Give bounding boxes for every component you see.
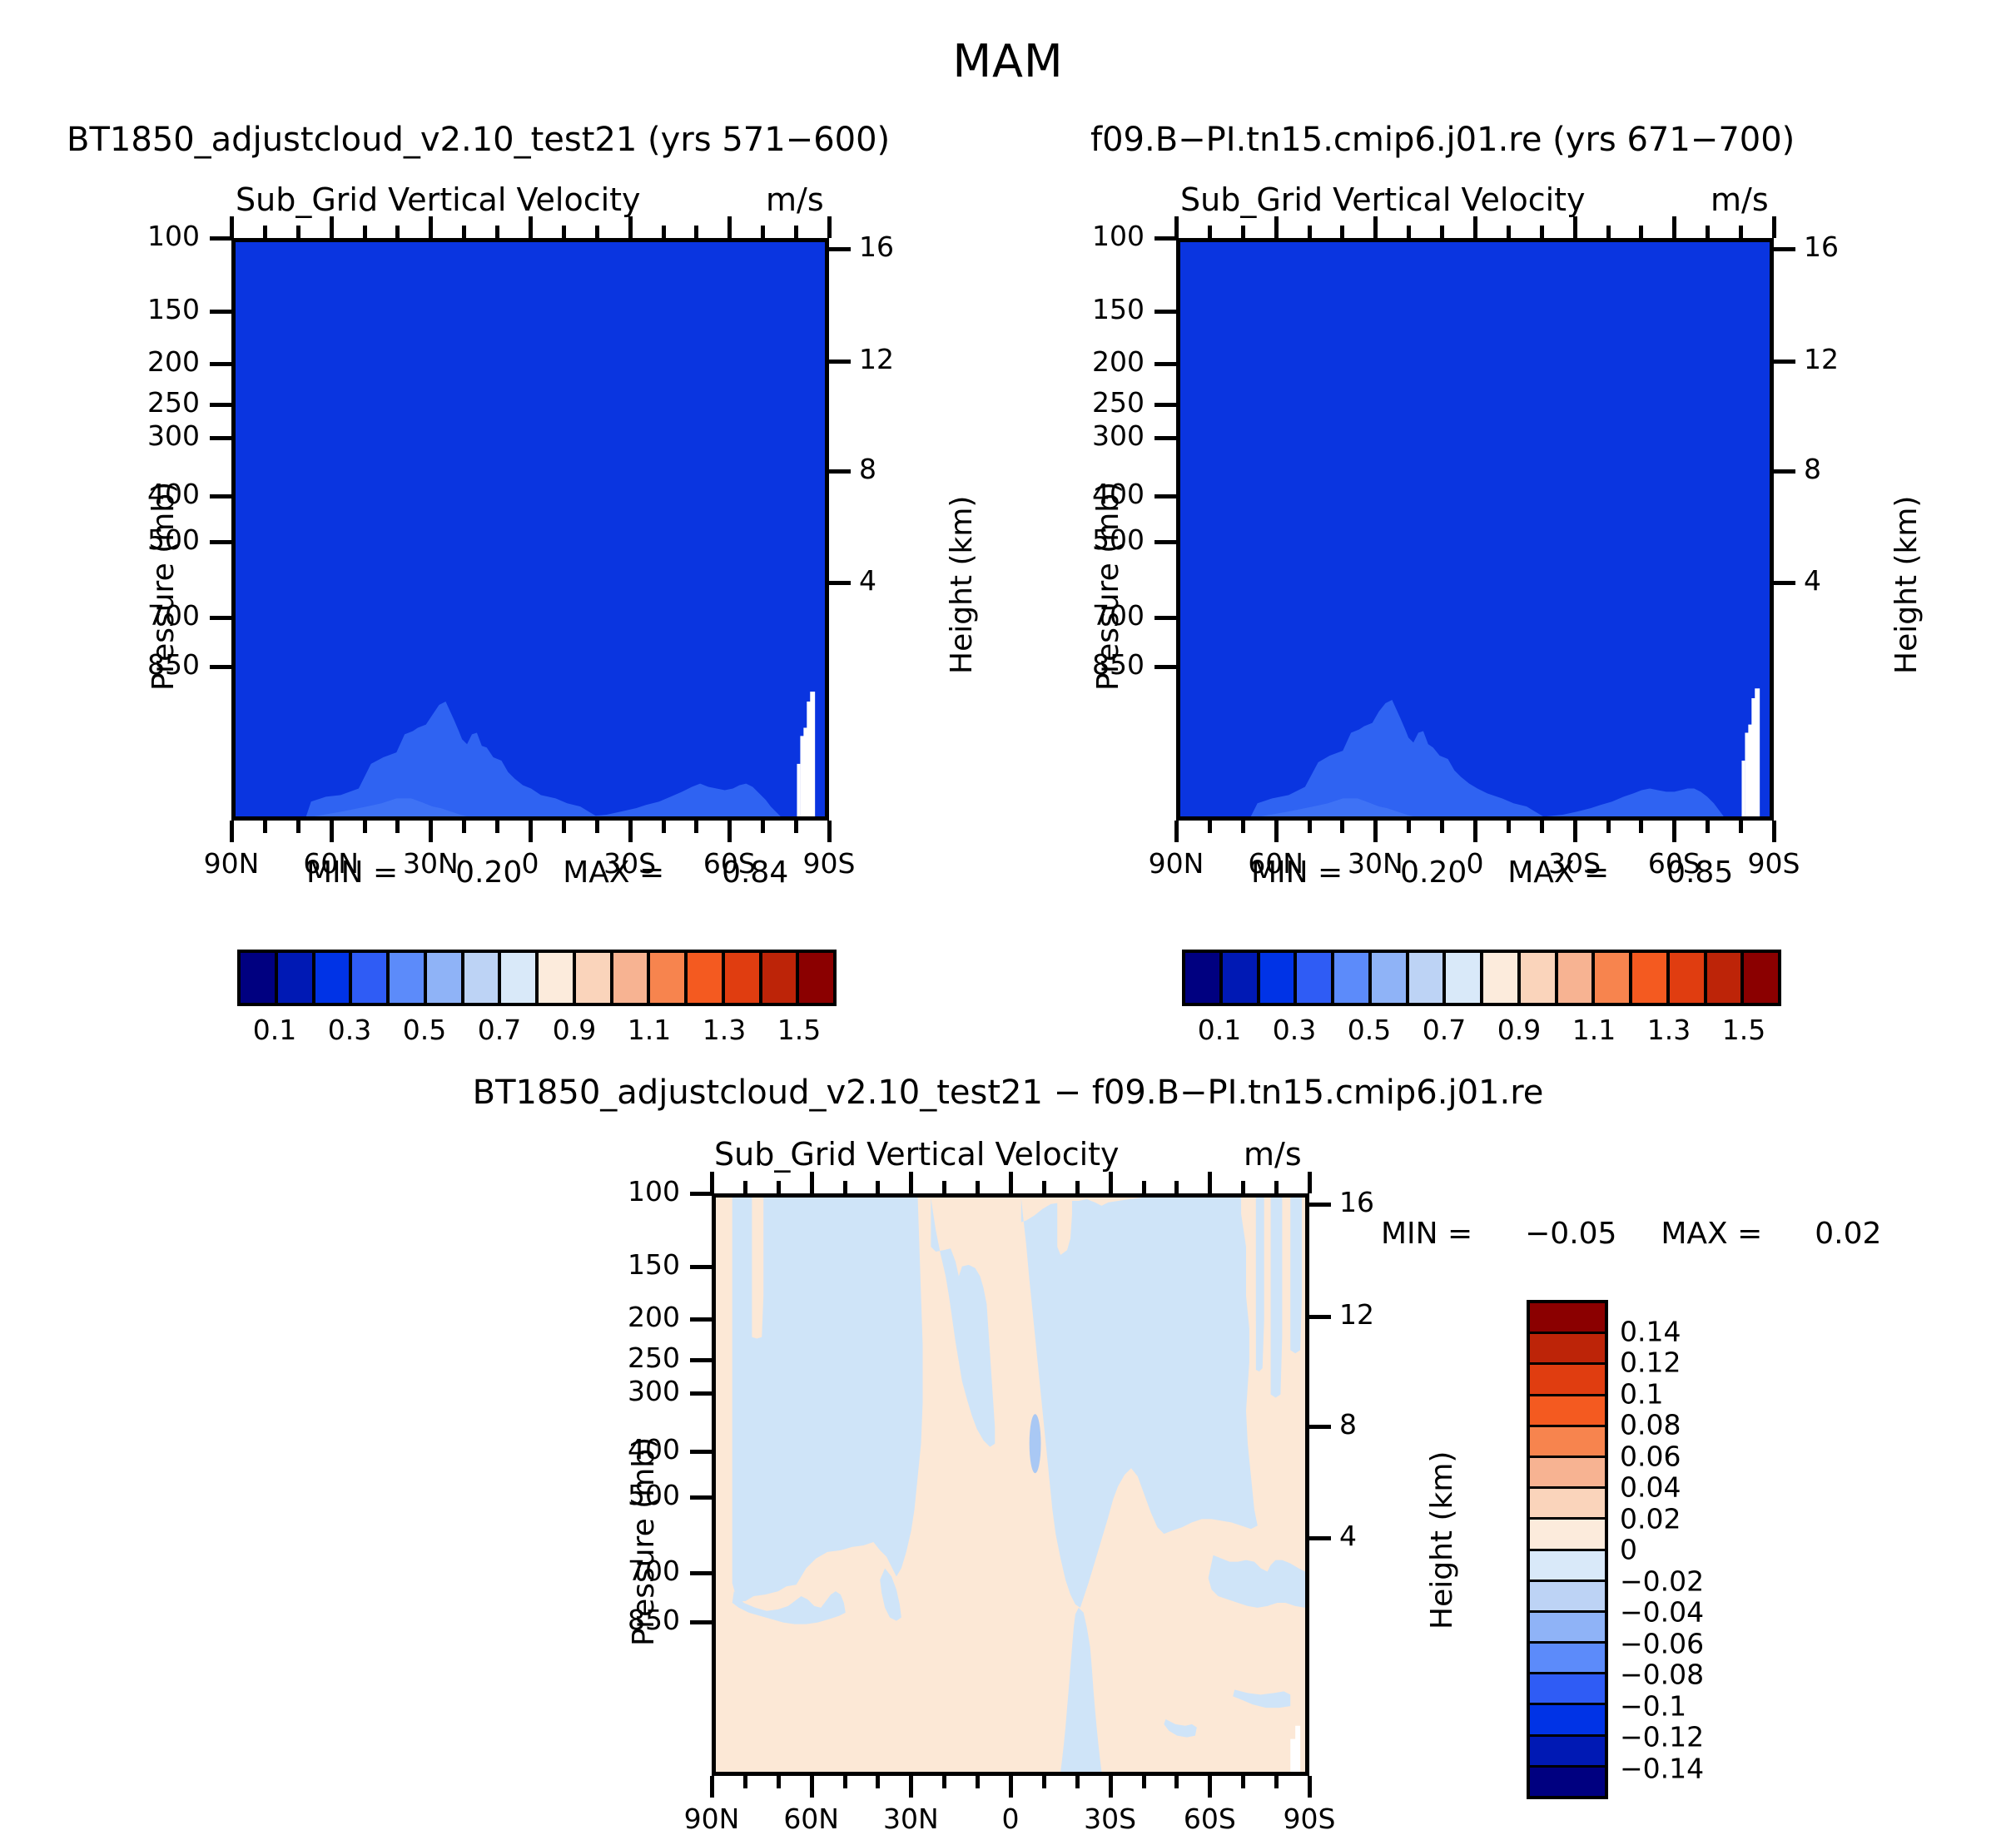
latitude-minor-tick xyxy=(843,1776,847,1788)
latitude-minor-tick xyxy=(1042,1776,1046,1788)
latitude-minor-tick xyxy=(1507,821,1511,833)
diff-colorbar-cell[interactable] xyxy=(1530,1458,1605,1489)
top-axis-minor-tick xyxy=(296,226,300,238)
latitude-tick-label: 90S xyxy=(1716,847,1832,880)
colorbar-cell[interactable] xyxy=(464,953,502,1003)
top-axis-minor-tick xyxy=(1308,226,1312,238)
top-axis-minor-tick xyxy=(743,1181,747,1193)
top-axis-minor-tick xyxy=(976,1181,980,1193)
latitude-minor-tick xyxy=(1174,1776,1179,1788)
colorbar-cell[interactable] xyxy=(1185,953,1223,1003)
colorbar-tick-label: 1.5 xyxy=(1694,1014,1794,1046)
colorbar-cell[interactable] xyxy=(1334,953,1372,1003)
pressure-tick-mark xyxy=(210,540,231,544)
pressure-tick-label: 400 xyxy=(82,478,200,510)
pressure-tick-mark xyxy=(1154,616,1176,620)
top-axis-tick-mark xyxy=(1672,216,1676,238)
top-axis-tick-mark xyxy=(429,216,433,238)
top-axis-tick-mark xyxy=(1573,216,1577,238)
top-axis-tick-mark xyxy=(1208,1172,1212,1193)
latitude-minor-tick xyxy=(662,821,666,833)
diff-min-value: −0.05 xyxy=(1525,1217,1616,1251)
height-tick-mark xyxy=(829,360,851,364)
pressure-tick-mark xyxy=(210,665,231,669)
height-tick-label: 16 xyxy=(859,231,926,263)
diff-panel-variable-title: Sub_Grid Vertical Velocity xyxy=(714,1136,1120,1173)
right-panel-plot-area[interactable] xyxy=(1176,238,1774,821)
latitude-tick-mark xyxy=(1208,1776,1212,1798)
top-axis-tick-mark xyxy=(1473,216,1477,238)
pressure-tick-label: 150 xyxy=(562,1248,680,1281)
colorbar-cell[interactable] xyxy=(1744,953,1778,1003)
pressure-tick-mark xyxy=(690,1265,712,1269)
colorbar-tick-label: 1.5 xyxy=(749,1014,849,1046)
latitude-minor-tick xyxy=(876,1776,880,1788)
height-tick-label: 4 xyxy=(1804,564,1870,597)
diff-colorbar-cell[interactable] xyxy=(1530,1551,1605,1582)
top-axis-minor-tick xyxy=(495,226,499,238)
colorbar-cell[interactable] xyxy=(1558,953,1596,1003)
colorbar-cell[interactable] xyxy=(1409,953,1447,1003)
colorbar-cell[interactable] xyxy=(613,953,651,1003)
height-tick-label: 8 xyxy=(859,453,926,485)
pressure-tick-label: 200 xyxy=(82,345,200,378)
diff-colorbar-cell[interactable] xyxy=(1530,1613,1605,1644)
latitude-minor-tick xyxy=(363,821,367,833)
diff-colorbar-tick-label: 0.08 xyxy=(1620,1409,1786,1441)
latitude-tick-mark xyxy=(429,821,433,842)
diff-colorbar-cell[interactable] xyxy=(1530,1489,1605,1520)
top-axis-tick-mark xyxy=(1109,1172,1113,1193)
diff-colorbar-cell[interactable] xyxy=(1530,1768,1605,1796)
pressure-tick-mark xyxy=(690,1620,712,1624)
pressure-tick-label: 300 xyxy=(82,419,200,452)
latitude-minor-tick xyxy=(1739,821,1743,833)
top-axis-tick-mark xyxy=(529,216,533,238)
top-axis-minor-tick xyxy=(761,226,765,238)
colorbar-cell[interactable] xyxy=(241,953,278,1003)
latitude-minor-tick xyxy=(595,821,599,833)
colorbar-cell[interactable] xyxy=(352,953,390,1003)
colorbar-cell[interactable] xyxy=(427,953,464,1003)
diff-colorbar-tick-label: −0.08 xyxy=(1620,1659,1786,1691)
colorbar-cell[interactable] xyxy=(1707,953,1745,1003)
top-axis-tick-mark xyxy=(710,1172,714,1193)
top-axis-minor-tick xyxy=(263,226,267,238)
latitude-minor-tick xyxy=(395,821,400,833)
pressure-tick-label: 300 xyxy=(1026,419,1145,452)
diff-colorbar-cell[interactable] xyxy=(1530,1674,1605,1705)
pressure-tick-mark xyxy=(690,1358,712,1362)
left-panel-title: BT1850_adjustcloud_v2.10_test21 (yrs 571… xyxy=(67,121,890,159)
latitude-tick-mark xyxy=(1772,821,1776,842)
colorbar-cell[interactable] xyxy=(1372,953,1409,1003)
pressure-tick-label: 250 xyxy=(562,1342,680,1374)
diff-colorbar-tick-label: −0.12 xyxy=(1620,1721,1786,1753)
diff-colorbar-cell[interactable] xyxy=(1530,1582,1605,1613)
top-axis-minor-tick xyxy=(843,1181,847,1193)
top-axis-minor-tick xyxy=(1706,226,1710,238)
height-tick-label: 12 xyxy=(859,343,926,375)
pressure-tick-label: 300 xyxy=(562,1375,680,1407)
figure-main-title: MAM xyxy=(0,35,2016,87)
height-tick-mark xyxy=(829,247,851,251)
top-axis-tick-mark xyxy=(1308,1172,1312,1193)
diff-colorbar-cell[interactable] xyxy=(1530,1520,1605,1550)
diff-colorbar-tick-label: −0.14 xyxy=(1620,1752,1786,1784)
colorbar-cell[interactable] xyxy=(762,953,800,1003)
top-axis-minor-tick xyxy=(395,226,400,238)
height-tick-mark xyxy=(1774,469,1795,474)
latitude-minor-tick xyxy=(1706,821,1710,833)
latitude-tick-mark xyxy=(1109,1776,1113,1798)
colorbar-cell[interactable] xyxy=(688,953,725,1003)
latitude-minor-tick xyxy=(761,821,765,833)
top-axis-minor-tick xyxy=(1407,226,1411,238)
colorbar-cell[interactable] xyxy=(1483,953,1521,1003)
pressure-tick-label: 700 xyxy=(562,1555,680,1587)
latitude-minor-tick xyxy=(976,1776,980,1788)
diff-max-value: 0.02 xyxy=(1815,1217,1881,1251)
pressure-tick-mark xyxy=(210,436,231,440)
diff-colorbar-labels: 0.140.120.10.080.060.040.020−0.02−0.04−0… xyxy=(1620,1300,1803,1799)
pressure-tick-mark xyxy=(1154,310,1176,314)
pressure-tick-label: 700 xyxy=(82,599,200,632)
top-axis-tick-mark xyxy=(1373,216,1378,238)
height-tick-mark xyxy=(1309,1203,1331,1207)
pressure-tick-label: 400 xyxy=(1026,478,1145,510)
latitude-minor-tick xyxy=(942,1776,946,1788)
pressure-tick-mark xyxy=(690,1317,712,1322)
top-axis-tick-mark xyxy=(1772,216,1776,238)
colorbar-cell[interactable] xyxy=(278,953,315,1003)
latitude-tick-mark xyxy=(710,1776,714,1798)
colorbar-cell[interactable] xyxy=(1260,953,1298,1003)
top-axis-minor-tick xyxy=(1340,226,1344,238)
top-axis-tick-mark xyxy=(330,216,334,238)
height-tick-label: 4 xyxy=(1339,1520,1406,1552)
height-tick-label: 8 xyxy=(1804,453,1870,485)
top-axis-minor-tick xyxy=(942,1181,946,1193)
height-tick-mark xyxy=(1774,360,1795,364)
pressure-tick-label: 150 xyxy=(1026,293,1145,325)
diff-height-axis-label: Height (km) xyxy=(1425,1451,1459,1629)
colorbar-cell[interactable] xyxy=(799,953,833,1003)
diff-panel-plot-area[interactable] xyxy=(712,1193,1309,1776)
pressure-tick-mark xyxy=(210,362,231,366)
pressure-tick-mark xyxy=(690,1192,712,1196)
right-colorbar[interactable] xyxy=(1182,950,1781,1006)
colorbar-cell[interactable] xyxy=(1632,953,1670,1003)
colorbar-cell[interactable] xyxy=(501,953,539,1003)
top-axis-minor-tick xyxy=(1739,226,1743,238)
pressure-tick-mark xyxy=(1154,436,1176,440)
diff-colorbar-cell[interactable] xyxy=(1530,1334,1605,1365)
latitude-tick-mark xyxy=(1274,821,1279,842)
top-axis-tick-mark xyxy=(1274,216,1279,238)
top-axis-minor-tick xyxy=(1241,1181,1245,1193)
latitude-tick-mark xyxy=(827,821,832,842)
left-colorbar-labels: 0.10.30.50.70.91.11.31.5 xyxy=(237,1014,837,1050)
latitude-minor-tick xyxy=(462,821,466,833)
height-tick-mark xyxy=(1309,1315,1331,1319)
colorbar-cell[interactable] xyxy=(1446,953,1483,1003)
pressure-tick-mark xyxy=(210,616,231,620)
latitude-minor-tick xyxy=(495,821,499,833)
pressure-tick-mark xyxy=(1154,665,1176,669)
top-axis-minor-tick xyxy=(1507,226,1511,238)
pressure-tick-mark xyxy=(210,494,231,498)
latitude-minor-tick xyxy=(263,821,267,833)
latitude-tick-mark xyxy=(810,1776,814,1798)
pressure-tick-label: 400 xyxy=(562,1433,680,1466)
top-axis-minor-tick xyxy=(1241,226,1245,238)
right-colorbar-labels: 0.10.30.50.70.91.11.31.5 xyxy=(1182,1014,1781,1050)
top-axis-minor-tick xyxy=(1142,1181,1146,1193)
latitude-minor-tick xyxy=(1440,821,1444,833)
top-axis-minor-tick xyxy=(1042,1181,1046,1193)
diff-colorbar-tick-label: 0.14 xyxy=(1620,1315,1786,1347)
latitude-minor-tick xyxy=(1606,821,1611,833)
diff-panel-contour-field xyxy=(716,1198,1305,1772)
latitude-tick-mark xyxy=(1009,1776,1013,1798)
right-panel-title: f09.B−PI.tn15.cmip6.j01.re (yrs 671−700) xyxy=(1090,121,1795,159)
pressure-tick-mark xyxy=(690,1450,712,1454)
colorbar-cell[interactable] xyxy=(576,953,613,1003)
diff-colorbar-tick-label: −0.06 xyxy=(1620,1627,1786,1659)
latitude-tick-mark xyxy=(628,821,633,842)
pressure-tick-label: 200 xyxy=(1026,345,1145,378)
pressure-tick-label: 850 xyxy=(562,1604,680,1636)
pressure-tick-label: 100 xyxy=(1026,220,1145,252)
pressure-tick-label: 500 xyxy=(82,523,200,556)
latitude-tick-mark xyxy=(330,821,334,842)
height-tick-mark xyxy=(829,469,851,474)
right-panel-units: m/s xyxy=(1711,181,1769,218)
latitude-minor-tick xyxy=(1340,821,1344,833)
diff-colorbar-cell[interactable] xyxy=(1530,1705,1605,1736)
top-axis-minor-tick xyxy=(876,1181,880,1193)
diff-colorbar-tick-label: 0.12 xyxy=(1620,1346,1786,1379)
pressure-tick-label: 700 xyxy=(1026,599,1145,632)
top-axis-tick-mark xyxy=(827,216,832,238)
pressure-tick-mark xyxy=(210,236,231,241)
colorbar-cell[interactable] xyxy=(1223,953,1260,1003)
colorbar-cell[interactable] xyxy=(1521,953,1558,1003)
pressure-tick-label: 250 xyxy=(1026,386,1145,419)
height-tick-mark xyxy=(1309,1425,1331,1429)
height-tick-label: 4 xyxy=(859,564,926,597)
top-axis-minor-tick xyxy=(694,226,698,238)
latitude-minor-tick xyxy=(1540,821,1544,833)
colorbar-cell[interactable] xyxy=(1670,953,1707,1003)
left-panel-contour-field xyxy=(236,242,825,816)
colorbar-cell[interactable] xyxy=(650,953,688,1003)
diff-colorbar-cell[interactable] xyxy=(1530,1303,1605,1334)
pressure-tick-label: 150 xyxy=(82,293,200,325)
diff-panel-title: BT1850_adjustcloud_v2.10_test21 − f09.B−… xyxy=(0,1074,2016,1112)
top-axis-minor-tick xyxy=(1075,1181,1080,1193)
latitude-tick-mark xyxy=(1373,821,1378,842)
pressure-tick-label: 500 xyxy=(1026,523,1145,556)
diff-colorbar-cell[interactable] xyxy=(1530,1644,1605,1674)
pressure-tick-mark xyxy=(690,1391,712,1396)
top-axis-tick-mark xyxy=(810,1172,814,1193)
latitude-minor-tick xyxy=(296,821,300,833)
latitude-minor-tick xyxy=(1075,1776,1080,1788)
pressure-tick-label: 100 xyxy=(82,220,200,252)
left-colorbar[interactable] xyxy=(237,950,837,1006)
diff-colorbar-tick-label: −0.1 xyxy=(1620,1689,1786,1722)
top-axis-minor-tick xyxy=(794,226,798,238)
top-axis-tick-mark xyxy=(1174,216,1179,238)
diff-colorbar-tick-label: 0.1 xyxy=(1620,1377,1786,1410)
latitude-minor-tick xyxy=(743,1776,747,1788)
pressure-tick-label: 250 xyxy=(82,386,200,419)
colorbar-cell[interactable] xyxy=(390,953,427,1003)
pressure-tick-mark xyxy=(1154,236,1176,241)
top-axis-minor-tick xyxy=(1540,226,1544,238)
top-axis-minor-tick xyxy=(595,226,599,238)
diff-colorbar-tick-label: −0.02 xyxy=(1620,1565,1786,1597)
diff-colorbar-cell[interactable] xyxy=(1530,1396,1605,1427)
top-axis-minor-tick xyxy=(1274,1181,1279,1193)
colorbar-cell[interactable] xyxy=(315,953,353,1003)
latitude-minor-tick xyxy=(1274,1776,1279,1788)
height-tick-mark xyxy=(1309,1536,1331,1540)
top-axis-minor-tick xyxy=(1440,226,1444,238)
height-tick-label: 8 xyxy=(1339,1408,1406,1441)
latitude-minor-tick xyxy=(1241,1776,1245,1788)
top-axis-tick-mark xyxy=(1009,1172,1013,1193)
pressure-tick-mark xyxy=(210,403,231,407)
pressure-tick-mark xyxy=(1154,540,1176,544)
top-axis-tick-mark xyxy=(628,216,633,238)
latitude-tick-label: 90S xyxy=(1251,1803,1368,1835)
pressure-tick-mark xyxy=(1154,494,1176,498)
colorbar-cell[interactable] xyxy=(725,953,762,1003)
pressure-tick-mark xyxy=(1154,362,1176,366)
top-axis-tick-mark xyxy=(727,216,732,238)
colorbar-cell[interactable] xyxy=(1595,953,1632,1003)
diff-colorbar-tick-label: 0.06 xyxy=(1620,1440,1786,1472)
top-axis-minor-tick xyxy=(363,226,367,238)
top-axis-minor-tick xyxy=(1639,226,1643,238)
top-axis-minor-tick xyxy=(562,226,566,238)
latitude-tick-mark xyxy=(909,1776,913,1798)
top-axis-minor-tick xyxy=(777,1181,781,1193)
pressure-tick-label: 850 xyxy=(82,648,200,681)
latitude-minor-tick xyxy=(1142,1776,1146,1788)
diff-min-label: MIN = xyxy=(1381,1217,1472,1251)
top-axis-minor-tick xyxy=(1174,1181,1179,1193)
latitude-tick-mark xyxy=(1672,821,1676,842)
height-tick-label: 12 xyxy=(1339,1298,1406,1331)
diff-minmax-row: MIN = −0.05 MAX = 0.02 xyxy=(1381,1217,1881,1251)
top-axis-minor-tick xyxy=(1208,226,1212,238)
pressure-tick-mark xyxy=(210,310,231,314)
left-panel-variable-title: Sub_Grid Vertical Velocity xyxy=(236,181,641,218)
left-panel-units: m/s xyxy=(766,181,824,218)
latitude-tick-mark xyxy=(1573,821,1577,842)
right-panel-contour-field xyxy=(1180,242,1770,816)
latitude-tick-mark xyxy=(1174,821,1179,842)
latitude-tick-mark xyxy=(727,821,732,842)
pressure-tick-label: 500 xyxy=(562,1479,680,1511)
top-axis-minor-tick xyxy=(1606,226,1611,238)
diff-colorbar-cell[interactable] xyxy=(1530,1427,1605,1458)
pressure-tick-mark xyxy=(1154,403,1176,407)
diff-colorbar-tick-label: 0.02 xyxy=(1620,1502,1786,1535)
height-tick-label: 16 xyxy=(1339,1186,1406,1218)
latitude-tick-label: 90S xyxy=(771,847,887,880)
diff-panel-units: m/s xyxy=(1244,1136,1302,1173)
diff-colorbar-tick-label: −0.04 xyxy=(1620,1596,1786,1629)
latitude-minor-tick xyxy=(1407,821,1411,833)
diff-colorbar-tick-label: 0 xyxy=(1620,1534,1786,1566)
top-axis-minor-tick xyxy=(662,226,666,238)
pressure-tick-mark xyxy=(690,1571,712,1575)
pressure-tick-label: 850 xyxy=(1026,648,1145,681)
latitude-tick-mark xyxy=(230,821,234,842)
top-axis-minor-tick xyxy=(462,226,466,238)
height-tick-label: 12 xyxy=(1804,343,1870,375)
height-tick-mark xyxy=(1774,247,1795,251)
latitude-minor-tick xyxy=(777,1776,781,1788)
diff-max-label: MAX = xyxy=(1661,1217,1762,1251)
top-axis-tick-mark xyxy=(909,1172,913,1193)
height-tick-mark xyxy=(829,581,851,585)
latitude-minor-tick xyxy=(562,821,566,833)
left-panel-plot-area[interactable] xyxy=(231,238,829,821)
latitude-minor-tick xyxy=(1241,821,1245,833)
latitude-tick-mark xyxy=(1308,1776,1312,1798)
pressure-tick-mark xyxy=(690,1495,712,1500)
diff-colorbar-cell[interactable] xyxy=(1530,1365,1605,1396)
colorbar-cell[interactable] xyxy=(1297,953,1334,1003)
colorbar-cell[interactable] xyxy=(539,953,576,1003)
latitude-tick-mark xyxy=(529,821,533,842)
right-panel-variable-title: Sub_Grid Vertical Velocity xyxy=(1180,181,1586,218)
height-tick-label: 16 xyxy=(1804,231,1870,263)
diff-colorbar-tick-label: 0.04 xyxy=(1620,1471,1786,1504)
latitude-tick-mark xyxy=(1473,821,1477,842)
latitude-minor-tick xyxy=(1639,821,1643,833)
pressure-tick-label: 200 xyxy=(562,1301,680,1333)
left-height-axis-label: Height (km) xyxy=(945,496,979,674)
right-height-axis-label: Height (km) xyxy=(1889,496,1924,674)
diff-colorbar-cell[interactable] xyxy=(1530,1737,1605,1768)
height-tick-mark xyxy=(1774,581,1795,585)
top-axis-tick-mark xyxy=(230,216,234,238)
latitude-minor-tick xyxy=(694,821,698,833)
latitude-minor-tick xyxy=(1208,821,1212,833)
pressure-tick-label: 100 xyxy=(562,1175,680,1208)
diff-colorbar[interactable] xyxy=(1527,1300,1608,1799)
latitude-minor-tick xyxy=(794,821,798,833)
latitude-minor-tick xyxy=(1308,821,1312,833)
